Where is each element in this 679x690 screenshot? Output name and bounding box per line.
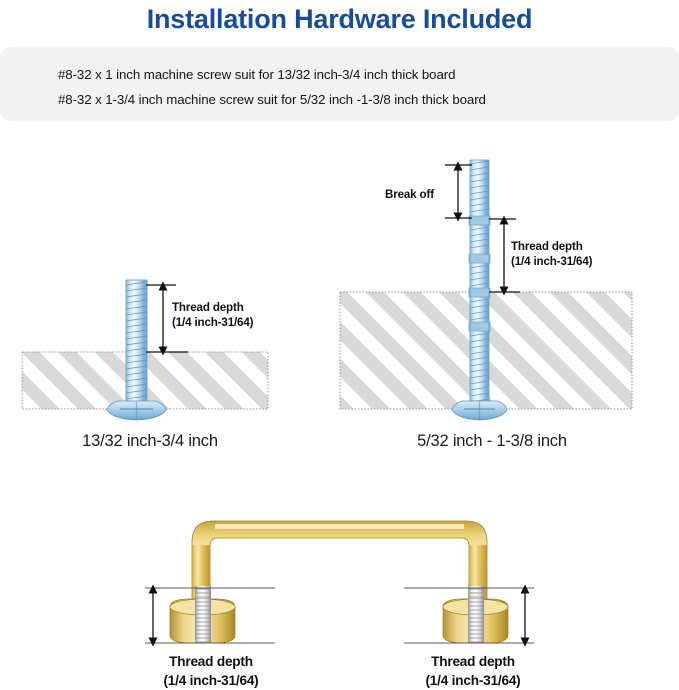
handle-left-thread-depth-line2: (1/4 inch-31/64) <box>122 671 300 690</box>
hardware-info-line-1: #8-32 x 1 inch machine screw suit for 13… <box>58 67 455 82</box>
handle-left-collar <box>170 599 235 643</box>
handle-left-thread-depth-line1: Thread depth <box>122 652 300 671</box>
handle-right-thread-depth-line1: Thread depth <box>384 652 562 671</box>
right-thread-depth-label: Thread depth (1/4 inch-31/64) <box>511 240 592 269</box>
right-diagram-caption: 5/32 inch - 1-3/8 inch <box>368 432 616 451</box>
handle-right-post <box>443 586 508 643</box>
handle-body <box>192 521 487 611</box>
cabinet-handle-diagram <box>145 521 534 643</box>
handle-right-collar <box>443 599 508 643</box>
right-board <box>340 292 632 409</box>
right-screw-head <box>452 401 507 420</box>
handle-right-thread-depth-label: Thread depth (1/4 inch-31/64) <box>384 652 562 690</box>
break-off-label: Break off <box>385 188 434 203</box>
left-thread-depth-line2: (1/4 inch-31/64) <box>172 316 253 331</box>
hardware-info-line-2: #8-32 x 1-3/4 inch machine screw suit fo… <box>58 92 486 107</box>
handle-left-thread-depth-label: Thread depth (1/4 inch-31/64) <box>122 652 300 690</box>
right-thread-depth-line1: Thread depth <box>511 240 592 255</box>
left-board <box>22 352 268 409</box>
left-screw-shaft <box>126 280 147 410</box>
right-thread-depth-line2: (1/4 inch-31/64) <box>511 255 592 270</box>
hardware-info-box: #8-32 x 1 inch machine screw suit for 13… <box>0 47 679 121</box>
right-screw-threads <box>470 161 489 408</box>
left-diagram-caption: 13/32 inch-3/4 inch <box>30 432 270 451</box>
left-thread-depth-line1: Thread depth <box>172 301 253 316</box>
right-screw-breakoff-grooves <box>469 216 490 331</box>
left-screw-head <box>107 401 166 420</box>
page-title: Installation Hardware Included <box>0 2 679 36</box>
right-screw-diagram <box>340 160 632 420</box>
left-thread-depth-label: Thread depth (1/4 inch-31/64) <box>172 301 253 330</box>
handle-left-post <box>170 586 235 643</box>
right-screw-shaft <box>470 160 489 410</box>
handle-right-thread-depth-line2: (1/4 inch-31/64) <box>384 671 562 690</box>
handle-right-dimension <box>404 588 534 643</box>
break-off-dimension <box>445 165 472 218</box>
handle-left-dimension <box>145 588 275 643</box>
left-screw-threads <box>126 282 147 405</box>
